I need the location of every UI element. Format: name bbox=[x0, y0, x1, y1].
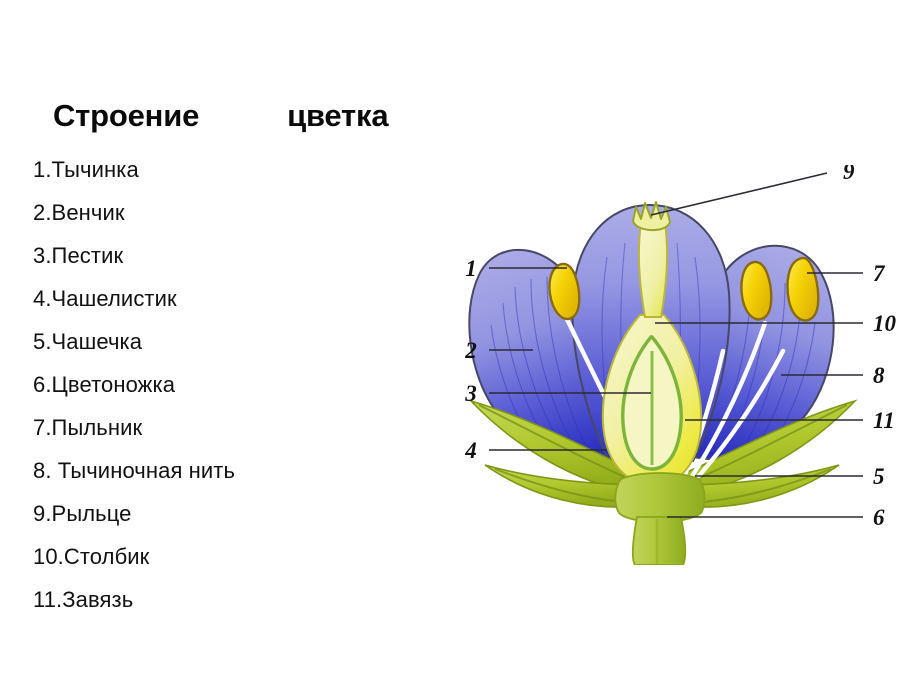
stem-group bbox=[615, 473, 704, 565]
list-item: 7.Пыльник bbox=[33, 406, 363, 449]
anther-right-inner bbox=[741, 262, 771, 319]
pedicel bbox=[633, 517, 685, 565]
list-item: 3.Пестик bbox=[33, 234, 363, 277]
list-item: 10.Столбик bbox=[33, 535, 363, 578]
flower-diagram: 1 2 3 4 9 7 10 8 11 5 6 bbox=[455, 165, 905, 565]
list-item: 6.Цветоножка bbox=[33, 363, 363, 406]
list-item: 8. Тычиночная нить bbox=[33, 449, 363, 492]
slide-canvas: Строение цветка 1.Тычинка 2.Венчик 3.Пес… bbox=[0, 0, 910, 683]
list-item: 9.Рыльце bbox=[33, 492, 363, 535]
title-word-stroenie: Строение bbox=[53, 98, 199, 134]
list-item: 1.Тычинка bbox=[33, 148, 363, 191]
receptacle bbox=[615, 473, 704, 522]
figure-label-8: 8 bbox=[873, 363, 885, 388]
figure-label-6: 6 bbox=[873, 505, 885, 530]
figure-label-1: 1 bbox=[465, 256, 477, 281]
list-item: 11.Завязь bbox=[33, 578, 363, 621]
list-item: 2.Венчик bbox=[33, 191, 363, 234]
figure-label-9: 9 bbox=[843, 165, 855, 184]
style bbox=[639, 223, 667, 317]
page-title: Строение цветка bbox=[53, 98, 473, 138]
figure-label-10: 10 bbox=[873, 311, 897, 336]
figure-label-4: 4 bbox=[464, 438, 477, 463]
figure-label-7: 7 bbox=[873, 261, 886, 286]
figure-label-2: 2 bbox=[464, 338, 477, 363]
leader-9 bbox=[651, 173, 827, 215]
list-item: 5.Чашечка bbox=[33, 320, 363, 363]
list-item: 4.Чашелистик bbox=[33, 277, 363, 320]
figure-label-11: 11 bbox=[873, 408, 895, 433]
figure-label-3: 3 bbox=[464, 381, 477, 406]
figure-label-5: 5 bbox=[873, 464, 885, 489]
title-word-cvetka: цветка bbox=[287, 98, 388, 134]
legend-list: 1.Тычинка 2.Венчик 3.Пестик 4.Чашелистик… bbox=[33, 148, 363, 621]
